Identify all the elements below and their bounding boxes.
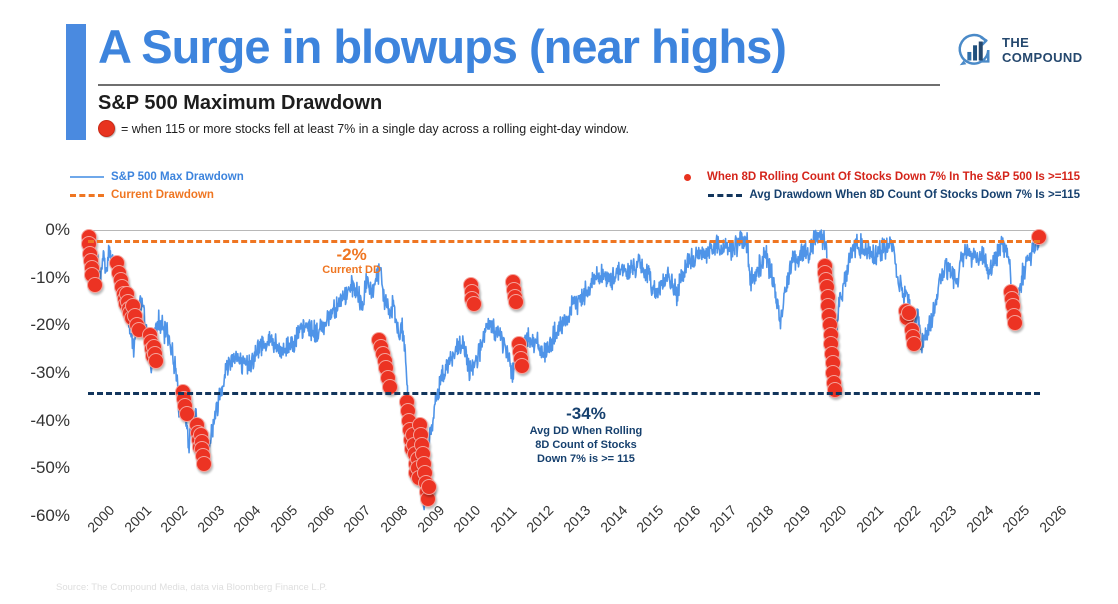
x-axis-tick: 2026 (1036, 502, 1069, 535)
blowup-dot (421, 479, 437, 495)
max-drawdown-line (88, 230, 1040, 509)
legend-item-max-drawdown: S&P 500 Max Drawdown (70, 168, 244, 186)
annotation-label: Current DD (297, 264, 407, 277)
chart-subtitle: S&P 500 Maximum Drawdown (98, 92, 382, 115)
annotation-line-3: Down 7% is >= 115 (506, 452, 666, 466)
legend-item-avg-drawdown: Avg Drawdown When 8D Count Of Stocks Dow… (560, 186, 1080, 204)
y-axis-tick: -20% (0, 315, 70, 335)
chart-plot-area: -2% Current DD -34% Avg DD When Rolling … (88, 230, 1040, 516)
blowup-dot (906, 336, 922, 352)
legend-label: S&P 500 Max Drawdown (111, 171, 244, 183)
blowup-dot (1007, 315, 1023, 331)
y-axis-tick: -10% (0, 268, 70, 288)
logo-line-1: THE (1002, 36, 1082, 51)
blowup-dot (508, 294, 524, 310)
blowup-dot (148, 353, 164, 369)
legend-item-blowup-dots: When 8D Rolling Count Of Stocks Down 7% … (560, 168, 1080, 186)
legend-item-current-drawdown: Current Drawdown (70, 186, 244, 204)
blowup-dot (466, 296, 482, 312)
y-axis-tick: -60% (0, 506, 70, 526)
y-axis-tick: -50% (0, 458, 70, 478)
red-dot-icon (98, 120, 115, 137)
annotation-line-2: 8D Count of Stocks (506, 438, 666, 452)
page-title: A Surge in blowups (near highs) (98, 22, 928, 71)
dashed-line-swatch-icon (70, 194, 104, 197)
blowup-dot (87, 277, 103, 293)
annotation-current-dd: -2% Current DD (297, 246, 407, 277)
annotation-value: -34% (506, 404, 666, 424)
annotation-avg-dd: -34% Avg DD When Rolling 8D Count of Sto… (506, 404, 666, 466)
blowup-dot (1031, 229, 1047, 245)
source-note: Source: The Compound Media, data via Blo… (56, 582, 327, 593)
annotation-line-1: Avg DD When Rolling (506, 424, 666, 438)
y-axis-tick: 0% (0, 220, 70, 240)
legend-label: When 8D Rolling Count Of Stocks Down 7% … (707, 171, 1080, 183)
blowup-dot (196, 456, 212, 472)
blowup-dot (901, 305, 917, 321)
logo-line-2: COMPOUND (1002, 51, 1082, 66)
y-axis-tick: -30% (0, 363, 70, 383)
blowup-dot (827, 382, 843, 398)
solid-line-swatch-icon (70, 176, 104, 178)
note-text: = when 115 or more stocks fell at least … (121, 122, 629, 136)
legend-label: Current Drawdown (111, 189, 214, 201)
dashed-line-swatch-icon (708, 194, 742, 197)
avg-drawdown-reference-line (88, 392, 1040, 395)
legend-label: Avg Drawdown When 8D Count Of Stocks Dow… (749, 189, 1080, 201)
current-drawdown-reference-line (88, 240, 1040, 243)
blowup-dot (514, 358, 530, 374)
annotation-value: -2% (297, 246, 407, 265)
the-compound-logo: THE COMPOUND (955, 32, 1082, 70)
dot-swatch-icon (684, 174, 691, 181)
note-row: = when 115 or more stocks fell at least … (98, 120, 629, 137)
logo-text: THE COMPOUND (1002, 36, 1082, 65)
compound-bars-icon (955, 32, 993, 70)
title-accent-bar (66, 24, 86, 140)
legend-right: When 8D Rolling Count Of Stocks Down 7% … (560, 168, 1080, 204)
y-axis-tick: -40% (0, 411, 70, 431)
title-divider (98, 84, 940, 86)
drawdown-line-series (88, 230, 1040, 516)
legend-left: S&P 500 Max Drawdown Current Drawdown (70, 168, 244, 204)
